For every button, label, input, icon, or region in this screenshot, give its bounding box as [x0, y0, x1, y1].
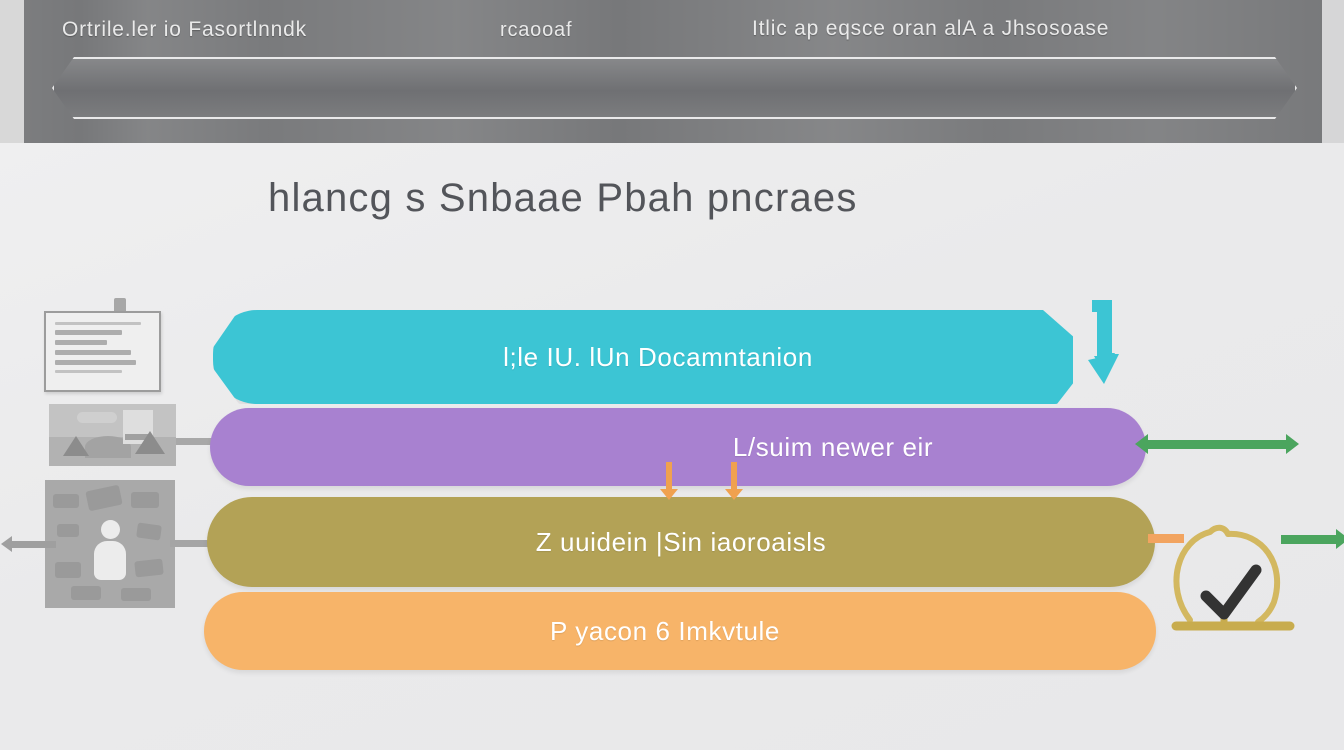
page-title: hlancg s Snbaae Pbah pncraes	[268, 176, 858, 221]
tree-icon	[135, 431, 165, 454]
thumb-panel[interactable]	[45, 480, 175, 608]
slide-canvas: Ortrile.ler io Fasortlnndk rcaooaf Itlic…	[0, 0, 1344, 750]
process-bar-improve[interactable]: P yacon 6 Imkvtule	[204, 592, 1156, 670]
collage-fragment	[131, 492, 159, 508]
header-ribbon[interactable]	[52, 57, 1297, 119]
header-right-edge	[1322, 0, 1344, 143]
hook-arrow-icon	[1082, 292, 1128, 392]
collage-fragment	[71, 586, 101, 600]
process-bar-analysis-label: Z uuidein |Sin iaoroaisls	[536, 527, 827, 558]
collage-fragment	[134, 559, 164, 578]
collage-fragment	[121, 588, 151, 601]
process-bar-review-label: L/suim newer eir	[733, 432, 933, 463]
collage-fragment	[55, 562, 81, 578]
person-collage-icon	[93, 520, 127, 580]
collage-fragment	[53, 494, 79, 508]
tree-icon	[63, 436, 89, 456]
process-bar-review[interactable]: L/suim newer eir	[210, 408, 1146, 486]
process-bar-improve-label: P yacon 6 Imkvtule	[550, 616, 780, 647]
thumb-document[interactable]	[44, 311, 161, 392]
collage-fragment	[85, 485, 122, 512]
ribbon-item-2[interactable]: rcaooaf	[500, 19, 572, 42]
double-arrow-icon	[1147, 440, 1287, 449]
header-band: Ortrile.ler io Fasortlnndk rcaooaf Itlic…	[0, 0, 1344, 143]
process-bar-documentation[interactable]: l;le IU. lUn Docamntanion	[213, 310, 1073, 404]
collage-fragment	[136, 522, 162, 540]
process-bar-analysis[interactable]: Z uuidein |Sin iaoroaisls	[207, 497, 1155, 587]
arrow-down-icon	[666, 462, 672, 490]
process-bar-documentation-label: l;le IU. lUn Docamntanion	[503, 342, 813, 373]
header-left-edge	[0, 0, 24, 143]
cloud-icon	[77, 412, 117, 423]
ribbon-item-1[interactable]: Ortrile.ler io Fasortlnndk	[62, 18, 307, 42]
collage-fragment	[57, 524, 79, 537]
document-board-icon	[46, 313, 159, 373]
thumb-scene[interactable]	[49, 404, 176, 466]
arrow-down-icon	[731, 462, 737, 490]
approval-badge	[1158, 512, 1308, 634]
ribbon-item-3[interactable]: Itlic ap eqsce oran alA a Jhsosoase	[752, 17, 1109, 41]
connector-input-left	[12, 541, 56, 548]
